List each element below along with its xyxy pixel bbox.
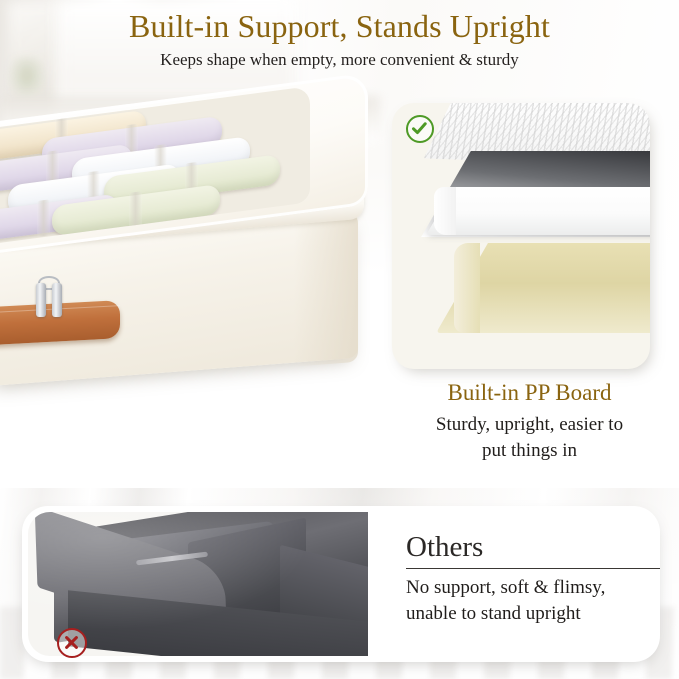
zipper-pull [34, 277, 68, 319]
pp-board-description-line2: put things in [380, 438, 679, 464]
zipper-tab [52, 283, 62, 317]
others-divider [406, 568, 660, 569]
others-title: Others [406, 528, 660, 566]
header: Built-in Support, Stands Upright Keeps s… [0, 0, 679, 86]
bottom-comparison-section: Others No support, soft & flimsy, unable… [0, 488, 679, 679]
cross-icon [57, 628, 87, 658]
infographic-page: Built-in Support, Stands Upright Keeps s… [0, 0, 679, 679]
pp-board-layer [426, 187, 650, 235]
pp-board-card [392, 103, 650, 369]
top-comparison-section: Built-in Support, Stands Upright Keeps s… [0, 0, 679, 488]
beige-base-layer [436, 243, 650, 333]
others-card: Others No support, soft & flimsy, unable… [22, 506, 660, 662]
others-description-line2: unable to stand upright [406, 601, 660, 627]
pp-board-title: Built-in PP Board [380, 378, 679, 408]
zipper-tab [36, 283, 46, 317]
check-icon [406, 115, 434, 143]
product-photo [0, 92, 378, 392]
pp-board-caption: Built-in PP Board Sturdy, upright, easie… [380, 378, 679, 464]
pp-board-description-line1: Sturdy, upright, easier to [380, 412, 679, 438]
page-title: Built-in Support, Stands Upright [0, 4, 679, 48]
others-description-line1: No support, soft & flimsy, [406, 575, 660, 601]
page-subtitle: Keeps shape when empty, more convenient … [0, 48, 679, 72]
others-caption: Others No support, soft & flimsy, unable… [406, 528, 660, 627]
